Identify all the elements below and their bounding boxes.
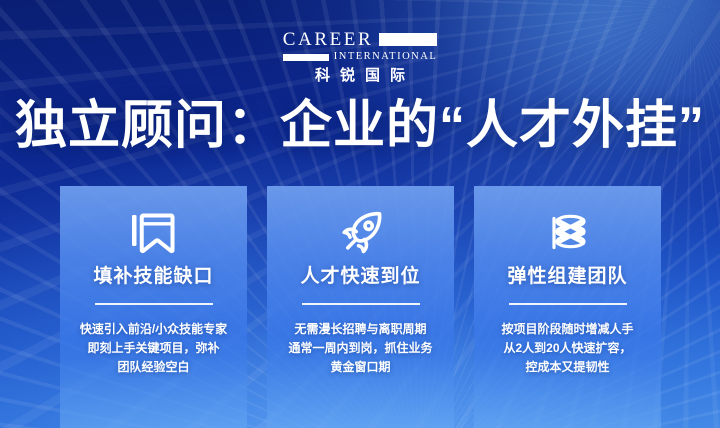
feature-card-title: 填补技能缺口: [93, 267, 213, 286]
logo-career-text: CAREER: [283, 30, 374, 49]
desc-line: 按项目阶段随时增减人手: [482, 320, 654, 339]
card-divider: [95, 303, 213, 305]
desc-line: 快速引入前沿/小众技能专家: [68, 320, 240, 339]
desc-line: 从2人到20人快速扩容，: [482, 339, 654, 358]
card-divider: [509, 303, 627, 305]
feature-card-description: 无需漫长招聘与离职周期 通常一周内到岗，抓住业务 黄金窗口期: [275, 320, 447, 378]
logo-bar-right: [379, 33, 437, 46]
logo-bar-left: [283, 54, 329, 61]
poster-canvas: CAREER INTERNATIONAL 科锐国际 独立顾问：企业的“人才外挂”…: [0, 0, 720, 428]
brand-logo: CAREER INTERNATIONAL 科锐国际: [0, 30, 720, 83]
rocket-icon: [334, 205, 388, 261]
feature-card-title: 弹性组建团队: [507, 267, 627, 286]
feature-card-list: 填补技能缺口 快速引入前沿/小众技能专家 即刻上手关键项目，弥补 团队经验空白: [60, 186, 662, 428]
logo-line-career: CAREER: [283, 30, 438, 49]
feature-card-description: 按项目阶段随时增减人手 从2人到20人快速扩容， 控成本又提韧性: [482, 320, 654, 378]
feature-card-title: 人才快速到位: [300, 267, 420, 286]
logo-line-international: INTERNATIONAL: [283, 52, 438, 63]
feature-card-description: 快速引入前沿/小众技能专家 即刻上手关键项目，弥补 团队经验空白: [68, 320, 240, 378]
feature-card[interactable]: 弹性组建团队 按项目阶段随时增减人手 从2人到20人快速扩容， 控成本又提韧性: [474, 186, 661, 428]
spring-coil-icon: [541, 205, 595, 261]
desc-line: 即刻上手关键项目，弥补: [68, 339, 240, 358]
card-divider: [302, 303, 420, 305]
desc-line: 团队经验空白: [68, 358, 240, 377]
logo-chinese-text: 科锐国际: [305, 68, 415, 83]
feature-card[interactable]: 填补技能缺口 快速引入前沿/小众技能专家 即刻上手关键项目，弥补 团队经验空白: [60, 186, 247, 428]
feature-card[interactable]: 人才快速到位 无需漫长招聘与离职周期 通常一周内到岗，抓住业务 黄金窗口期: [267, 186, 454, 428]
desc-line: 黄金窗口期: [275, 358, 447, 377]
bookmark-icon: [127, 205, 181, 261]
page-title: 独立顾问：企业的“人才外挂”: [0, 98, 720, 154]
desc-line: 无需漫长招聘与离职周期: [275, 320, 447, 339]
desc-line: 控成本又提韧性: [482, 358, 654, 377]
desc-line: 通常一周内到岗，抓住业务: [275, 339, 447, 358]
logo-international-text: INTERNATIONAL: [334, 52, 438, 63]
